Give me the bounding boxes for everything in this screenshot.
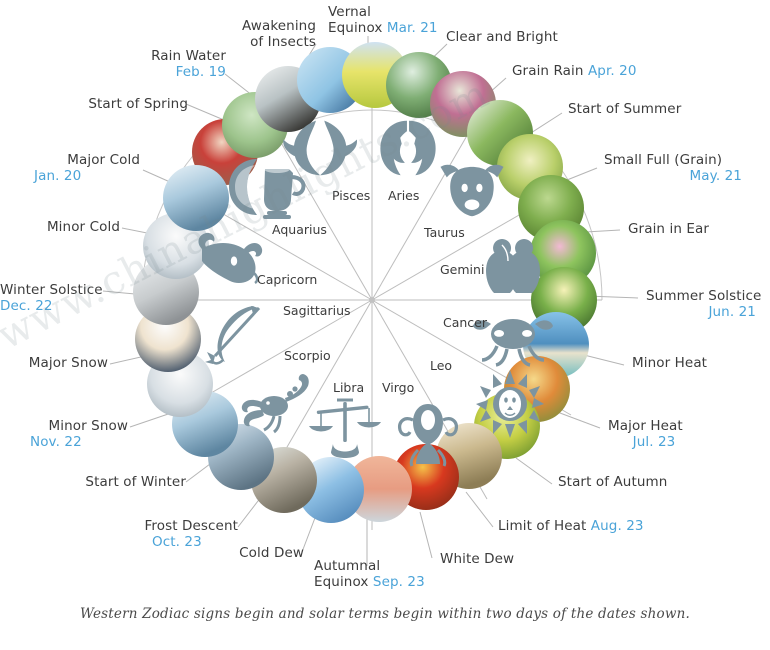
label-limit-of-heat-name: Limit of Heat: [498, 518, 586, 534]
gemini-icon: [486, 239, 540, 293]
zodiac-label-pisces: Pisces: [332, 188, 370, 203]
label-autumnal-equinox: Autumnal Equinox Sep. 23: [314, 558, 494, 590]
label-clear-and-bright-name: Clear and Bright: [446, 29, 558, 45]
label-start-of-autumn-name: Start of Autumn: [558, 474, 667, 490]
aquarius-icon: [229, 159, 304, 219]
label-clear-and-bright: Clear and Bright: [446, 29, 558, 45]
zodiac-label-gemini: Gemini: [440, 262, 484, 277]
label-small-full-grain: Small Full (Grain) May. 21: [604, 152, 764, 184]
label-start-of-winter: Start of Winter: [44, 474, 186, 490]
label-major-heat-date: Jul. 23: [608, 434, 728, 450]
leader-limit-heat: [466, 492, 493, 527]
leader-start-autumn: [516, 458, 552, 484]
label-minor-cold: Minor Cold: [14, 219, 120, 235]
label-vernal-equinox-date: Mar. 21: [387, 20, 438, 36]
libra-icon: [309, 400, 381, 458]
zodiac-label-libra: Libra: [333, 380, 364, 395]
label-major-snow-name: Major Snow: [29, 355, 108, 371]
label-major-cold: Major Cold Jan. 20: [10, 152, 140, 184]
label-cold-dew-name: Cold Dew: [239, 545, 304, 561]
label-major-heat-name: Major Heat: [608, 418, 683, 434]
label-rain-water: Rain Water Feb. 19: [40, 48, 226, 80]
label-grain-in-ear-name: Grain in Ear: [628, 221, 709, 237]
label-start-of-summer-name: Start of Summer: [568, 101, 681, 117]
label-minor-heat-name: Minor Heat: [632, 355, 707, 371]
label-autumnal-equinox-name-line1: Autumnal: [314, 558, 380, 574]
label-limit-of-heat-date: Aug. 23: [591, 518, 644, 534]
label-minor-heat: Minor Heat: [632, 355, 707, 371]
label-limit-of-heat: Limit of Heat Aug. 23: [498, 518, 644, 534]
label-major-cold-name: Major Cold: [67, 152, 140, 168]
label-rain-water-name: Rain Water: [151, 48, 226, 64]
zodiac-label-scorpio: Scorpio: [284, 348, 331, 363]
label-small-full-grain-name: Small Full (Grain): [604, 152, 722, 168]
label-small-full-grain-date: May. 21: [604, 168, 764, 184]
label-awakening-of-insects: Awakening of Insects: [150, 18, 316, 50]
label-autumnal-equinox-date: Sep. 23: [373, 574, 425, 590]
label-start-of-winter-name: Start of Winter: [85, 474, 186, 490]
label-frost-descent-date: Oct. 23: [86, 534, 238, 550]
zodiac-label-sagittarius: Sagittarius: [283, 303, 351, 318]
label-winter-solstice-name: Winter Solstice: [0, 282, 103, 298]
label-major-cold-date: Jan. 20: [10, 168, 140, 184]
label-start-of-spring-name: Start of Spring: [88, 96, 188, 112]
zodiac-label-leo: Leo: [430, 358, 452, 373]
label-summer-solstice: Summer Solstice Jun. 21: [646, 288, 766, 320]
label-frost-descent-name: Frost Descent: [144, 518, 238, 534]
label-major-heat: Major Heat Jul. 23: [608, 418, 728, 450]
scorpio-icon: [242, 374, 309, 432]
label-winter-solstice-date: Dec. 22: [0, 298, 100, 314]
leader-white-dew: [420, 512, 432, 558]
label-frost-descent: Frost Descent Oct. 23: [86, 518, 238, 550]
label-grain-in-ear: Grain in Ear: [628, 221, 709, 237]
label-awakening-name-line2: of Insects: [250, 34, 316, 50]
photo-major-cold-3: [163, 165, 229, 231]
zodiac-solar-term-wheel: Pisces Aries Taurus Gemini Cancer Leo Vi…: [0, 0, 770, 650]
zodiac-label-cancer: Cancer: [443, 315, 487, 330]
zodiac-label-aries: Aries: [388, 188, 419, 203]
label-summer-solstice-date: Jun. 21: [646, 304, 766, 320]
label-start-of-summer: Start of Summer: [568, 101, 681, 117]
label-rain-water-date: Feb. 19: [176, 64, 226, 80]
taurus-icon: [441, 165, 504, 217]
label-minor-snow-name: Minor Snow: [49, 418, 128, 434]
label-vernal-equinox-name-line2: Equinox: [328, 20, 383, 36]
zodiac-label-virgo: Virgo: [382, 380, 414, 395]
caption: Western Zodiac signs begin and solar ter…: [0, 606, 770, 622]
zodiac-label-taurus: Taurus: [424, 225, 465, 240]
label-start-of-spring: Start of Spring: [20, 96, 188, 112]
aries-icon: [380, 121, 435, 176]
label-awakening-name-line1: Awakening: [242, 18, 316, 34]
zodiac-label-capricorn: Capricorn: [257, 272, 317, 287]
label-vernal-equinox-name-line1: Vernal: [328, 4, 371, 20]
sagittarius-icon: [205, 306, 259, 364]
label-grain-rain-name: Grain Rain: [512, 63, 584, 79]
label-start-of-autumn: Start of Autumn: [558, 474, 667, 490]
label-winter-solstice: Winter Solstice Dec. 22: [0, 282, 100, 314]
label-autumnal-equinox-name-line2: Equinox: [314, 574, 369, 590]
hub-dot: [369, 297, 375, 303]
label-major-snow: Major Snow: [4, 355, 108, 371]
label-minor-snow-date: Nov. 22: [4, 434, 128, 450]
label-minor-snow: Minor Snow Nov. 22: [4, 418, 128, 450]
label-grain-rain-date: Apr. 20: [588, 63, 637, 79]
label-grain-rain: Grain Rain Apr. 20: [512, 63, 637, 79]
label-minor-cold-name: Minor Cold: [47, 219, 120, 235]
zodiac-label-aquarius: Aquarius: [272, 222, 327, 237]
label-summer-solstice-name: Summer Solstice: [646, 288, 761, 304]
